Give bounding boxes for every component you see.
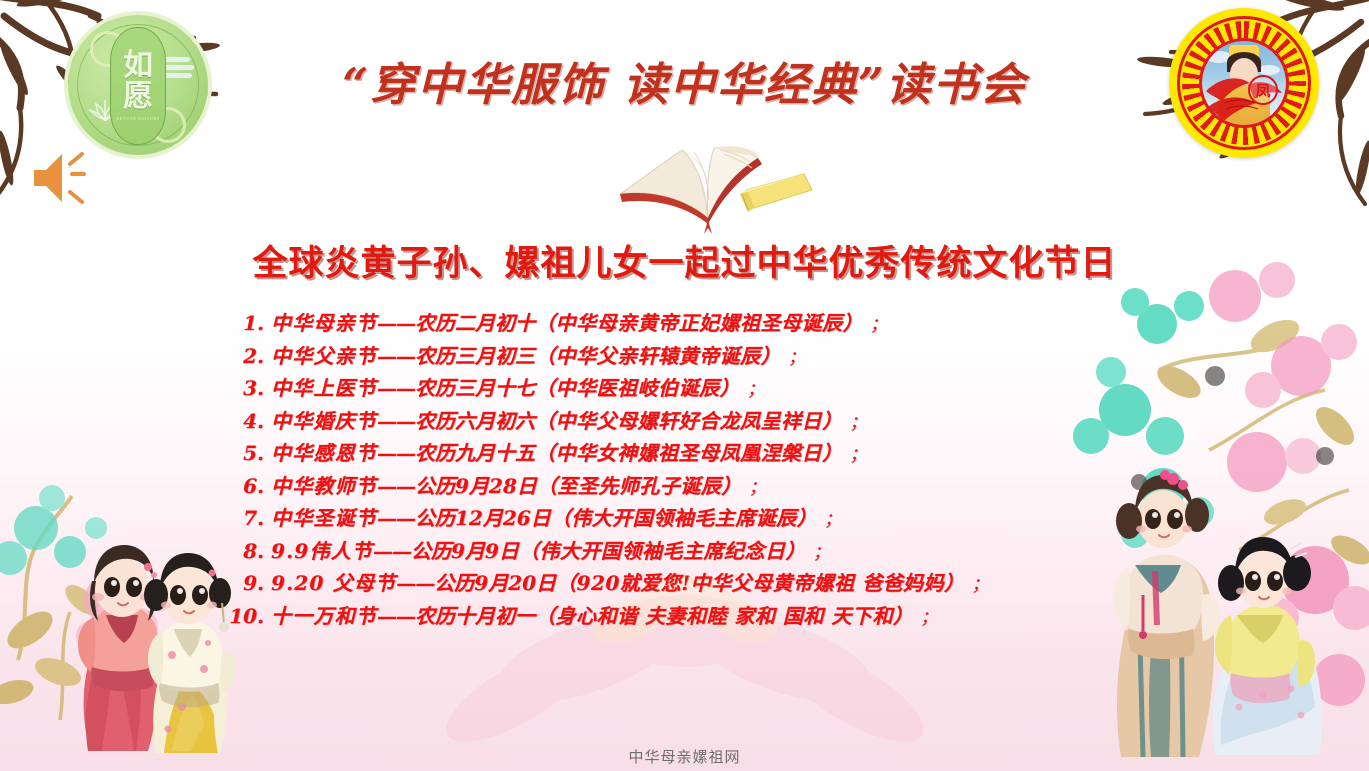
item-end: ；: [781, 343, 805, 374]
item-date: 公历9月9日: [411, 536, 519, 567]
footer-site-name: 中华母亲嫘祖网: [0, 746, 1369, 767]
item-dash: ——: [377, 503, 415, 534]
item-note: （身心和谐 夫妻和睦 家和 国和 天下和）: [535, 601, 913, 632]
item-name: 中华教师节: [271, 471, 377, 502]
item-date: 公历9月20日: [434, 568, 556, 599]
item-end: ；: [863, 310, 887, 341]
item-name: 中华母亲节: [271, 308, 377, 339]
item-end: ；: [817, 505, 841, 536]
item-name: 中华婚庆节: [271, 406, 377, 437]
item-dash: ——: [377, 406, 415, 437]
item-date: 农历九月十五: [415, 438, 535, 469]
item-note: （中华女神嫘祖圣母凤凰涅槃日）: [535, 438, 843, 469]
item-note: （伟大开国领袖毛主席纪念日）: [519, 536, 806, 567]
item-number: 2.: [228, 341, 271, 372]
item-note: （中华医祖岐伯诞辰）: [535, 373, 740, 404]
page-subtitle: 全球炎黄子孙、嫘祖儿女一起过中华优秀传统文化节日: [0, 235, 1369, 286]
emblem-inner-ring: [1199, 38, 1289, 128]
poster-canvas: 如 愿 RUYUAN CULTURE: [0, 0, 1369, 771]
item-note: （至圣先师孔子诞辰）: [537, 471, 742, 502]
item-end: ；: [965, 570, 989, 601]
page-title: “穿中华服饰 读中华经典”读书会: [0, 48, 1369, 113]
item-name: 十一万和节: [271, 601, 377, 632]
item-number: 8.: [228, 536, 271, 567]
item-note: （中华父母嫘轩好合龙凤呈祥日）: [535, 406, 843, 437]
item-number: 5.: [228, 438, 271, 469]
item-date: 公历12月26日: [415, 503, 551, 534]
item-number: 7.: [228, 503, 271, 534]
hanfu-girls-left-illustration: [44, 527, 254, 757]
luozu-emblem[interactable]: 凤: [1169, 8, 1319, 158]
item-number: 3.: [228, 373, 271, 404]
list-item: 4. 中华婚庆节 —— 农历六月初六 （中华父母嫘轩好合龙凤呈祥日） ；: [228, 406, 1228, 439]
speaker-icon[interactable]: [28, 148, 94, 208]
item-end: ；: [806, 538, 830, 569]
item-number: 4.: [228, 406, 271, 437]
item-dash: ——: [373, 536, 411, 567]
item-dash: ——: [377, 471, 415, 502]
item-date: 农历三月初三: [415, 341, 535, 372]
item-name: 中华圣诞节: [271, 503, 377, 534]
item-name: 中华父亲节: [271, 341, 377, 372]
item-note: （中华父亲轩辕黄帝诞辰）: [535, 341, 781, 372]
item-dash: ——: [377, 438, 415, 469]
open-book-image: [608, 128, 818, 238]
list-item: 8. 9.9伟人节 —— 公历9月9日 （伟大开国领袖毛主席纪念日） ；: [228, 536, 1228, 569]
item-end: ；: [742, 473, 766, 504]
item-dash: ——: [377, 601, 415, 632]
item-date: 农历十月初一: [415, 601, 535, 632]
list-item: 9. 9.20 父母节 —— 公历9月20日 （920就爱您!中华父母黄帝嫘祖 …: [228, 568, 1228, 601]
list-item: 1. 中华母亲节 —— 农历二月初十 （中华母亲黄帝正妃嫘祖圣母诞辰） ；: [228, 308, 1228, 341]
list-item: 5. 中华感恩节 —— 农历九月十五 （中华女神嫘祖圣母凤凰涅槃日） ；: [228, 438, 1228, 471]
list-item: 2. 中华父亲节 —— 农历三月初三 （中华父亲轩辕黄帝诞辰） ；: [228, 341, 1228, 374]
festival-list: 1. 中华母亲节 —— 农历二月初十 （中华母亲黄帝正妃嫘祖圣母诞辰） ； 2.…: [228, 308, 1228, 633]
item-date: 农历二月初十: [415, 308, 535, 339]
item-number: 10.: [228, 601, 271, 632]
item-number: 1.: [228, 308, 271, 339]
list-item: 10. 十一万和节 —— 农历十月初一 （身心和谐 夫妻和睦 家和 国和 天下和…: [228, 601, 1228, 634]
item-note: （伟大开国领袖毛主席诞辰）: [551, 503, 818, 534]
item-dash: ——: [396, 568, 434, 599]
item-end: ；: [843, 440, 867, 471]
list-item: 7. 中华圣诞节 —— 公历12月26日 （伟大开国领袖毛主席诞辰） ；: [228, 503, 1228, 536]
item-note: （920就爱您!中华父母黄帝嫘祖 爸爸妈妈）: [556, 568, 965, 599]
item-date: 农历六月初六: [415, 406, 535, 437]
item-dash: ——: [377, 373, 415, 404]
item-number: 6.: [228, 471, 271, 502]
logo-subtext: RUYUAN CULTURE: [116, 116, 159, 121]
item-dash: ——: [377, 308, 415, 339]
item-name: 9.20 父母节: [271, 568, 396, 599]
list-item: 3. 中华上医节 —— 农历三月十七 （中华医祖岐伯诞辰） ；: [228, 373, 1228, 406]
item-end: ；: [740, 375, 764, 406]
item-note: （中华母亲黄帝正妃嫘祖圣母诞辰）: [535, 308, 863, 339]
item-number: 9.: [228, 568, 271, 599]
item-dash: ——: [377, 341, 415, 372]
item-end: ；: [843, 408, 867, 439]
item-name: 9.9伟人节: [271, 536, 373, 567]
list-item: 6. 中华教师节 —— 公历9月28日 （至圣先师孔子诞辰） ；: [228, 471, 1228, 504]
item-end: ；: [913, 603, 937, 634]
item-name: 中华感恩节: [271, 438, 377, 469]
item-name: 中华上医节: [271, 373, 377, 404]
item-date: 公历9月28日: [415, 471, 537, 502]
item-date: 农历三月十七: [415, 373, 535, 404]
